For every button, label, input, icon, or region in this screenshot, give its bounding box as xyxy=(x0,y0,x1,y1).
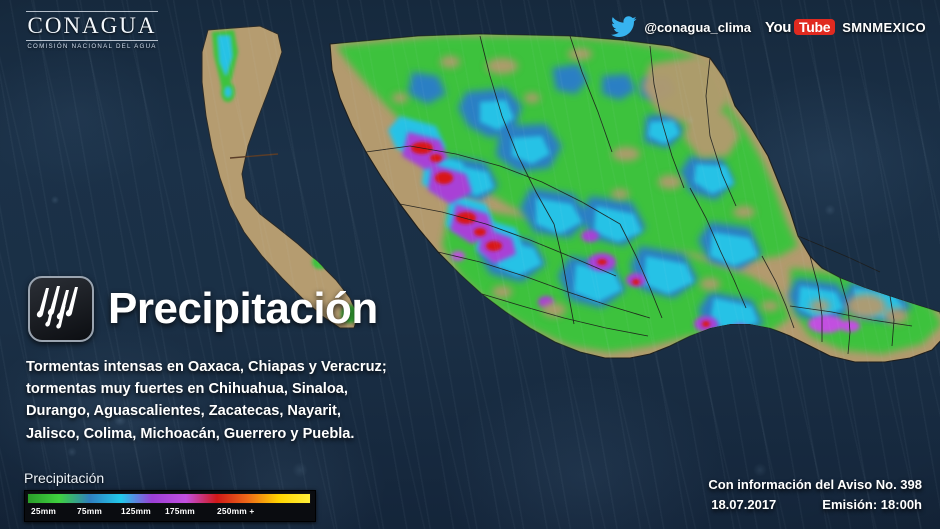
twitter-link[interactable]: @conagua_clima xyxy=(611,16,751,38)
legend-label-0: 25mm xyxy=(31,506,56,516)
youtube-tube-badge: Tube xyxy=(794,19,835,35)
legend-gradient-bar xyxy=(27,493,311,504)
title-block: Precipitación xyxy=(28,276,378,342)
rain-icon xyxy=(28,276,94,342)
precipitation-legend: Precipitación 25mm75mm125mm175mm250mm + xyxy=(24,470,316,522)
advisory-info: Con información del Aviso No. 398 18.07.… xyxy=(708,475,922,515)
advisory-date: 18.07.2017 xyxy=(711,495,776,515)
twitter-bird-icon xyxy=(611,16,637,38)
page-title: Precipitación xyxy=(108,284,378,334)
legend-label-1: 75mm xyxy=(77,506,102,516)
social-links: @conagua_clima You Tube SMNMEXICO xyxy=(611,16,926,38)
logo-wordmark: CONAGUA xyxy=(22,12,162,40)
weather-graphic: CONAGUA COMISIÓN NACIONAL DEL AGUA @cona… xyxy=(0,0,940,529)
description-line-1: Tormentas intensas en Oaxaca, Chiapas y … xyxy=(26,356,446,378)
legend-label-3: 175mm xyxy=(165,506,195,516)
advisory-notice: Con información del Aviso No. 398 xyxy=(708,475,922,495)
description-line-3: Durango, Aguascalientes, Zacatecas, Naya… xyxy=(26,400,446,422)
mainland-mexico xyxy=(330,34,940,362)
description-line-4: Jalisco, Colima, Michoacán, Guerrero y P… xyxy=(26,423,446,445)
youtube-logo: You Tube xyxy=(765,19,835,36)
legend-label-4: 250mm + xyxy=(217,506,255,516)
description-line-2: tormentas muy fuertes en Chihuahua, Sina… xyxy=(26,378,446,400)
conagua-logo: CONAGUA COMISIÓN NACIONAL DEL AGUA xyxy=(22,11,162,50)
legend-title: Precipitación xyxy=(24,470,316,486)
forecast-description: Tormentas intensas en Oaxaca, Chiapas y … xyxy=(26,356,446,445)
youtube-channel-name: SMNMEXICO xyxy=(842,20,926,35)
youtube-link[interactable]: You Tube SMNMEXICO xyxy=(765,19,926,36)
legend-label-2: 125mm xyxy=(121,506,151,516)
twitter-handle: @conagua_clima xyxy=(644,20,751,35)
legend-panel: 25mm75mm125mm175mm250mm + xyxy=(24,490,316,522)
advisory-emission: Emisión: 18:00h xyxy=(822,495,922,515)
logo-subtitle: COMISIÓN NACIONAL DEL AGUA xyxy=(22,43,162,50)
youtube-you-text: You xyxy=(765,19,791,36)
logo-rule-bottom xyxy=(26,40,158,41)
legend-labels: 25mm75mm125mm175mm250mm + xyxy=(27,506,309,519)
